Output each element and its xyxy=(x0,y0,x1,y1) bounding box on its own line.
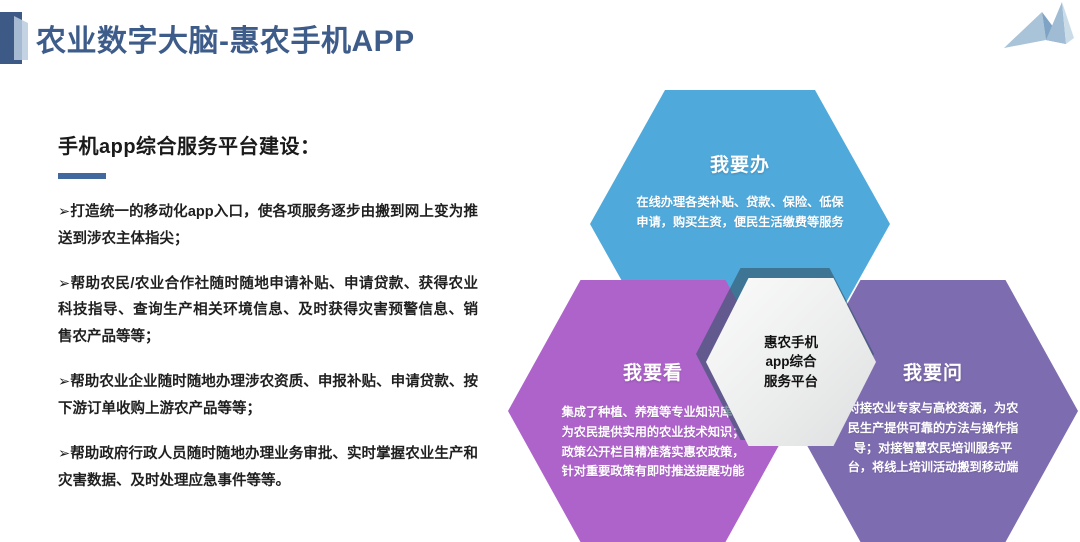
page-title: 农业数字大脑-惠农手机APP xyxy=(36,16,415,60)
hexagon-body: 集成了种植、养殖等专业知识库，为农民提供实用的农业技术知识；政策公开栏目精准落实… xyxy=(558,403,748,482)
bullet-paragraph: ➢帮助农业企业随时随地办理涉农资质、申报补贴、申请贷款、按下游订单收购上游农产品… xyxy=(58,369,478,423)
bullet-paragraph: ➢打造统一的移动化app入口，使各项服务逐步由搬到网上变为推送到涉农主体指尖； xyxy=(58,199,478,253)
hexagon-title: 我要看 xyxy=(623,358,683,385)
left-text-column: 手机app综合服务平台建设： ➢打造统一的移动化app入口，使各项服务逐步由搬到… xyxy=(58,130,478,494)
heading-underline-rule xyxy=(58,173,106,179)
hexagon-center-label: 惠农手机 app综合 服务平台 xyxy=(764,333,818,390)
bullet-paragraph: ➢帮助政府行政人员随时随地办理业务审批、实时掌握农业生产和灾害数据、及时处理应急… xyxy=(58,441,478,495)
accent-block-light xyxy=(14,16,28,60)
hexagon-body: 对接农业专家与高校资源，为农民生产提供可靠的方法与操作指导；对接智慧农民培训服务… xyxy=(843,399,1023,478)
title-accent-bar xyxy=(0,12,22,64)
hexagon-venn-diagram: 我要办 在线办理各类补贴、贷款、保险、低保申请，购买生资，便民生活缴费等服务 我… xyxy=(500,80,1080,540)
hexagon-body: 在线办理各类补贴、贷款、保险、低保申请，购买生资，便民生活缴费等服务 xyxy=(633,193,848,233)
hexagon-title: 我要问 xyxy=(903,358,963,385)
origami-triangle-icon xyxy=(990,0,1076,60)
bullet-paragraph: ➢帮助农民/农业合作社随时随地申请补贴、申请贷款、获得农业科技指导、查询生产相关… xyxy=(58,271,478,351)
slide-title-bar: 农业数字大脑-惠农手机APP xyxy=(0,12,415,64)
hexagon-title: 我要办 xyxy=(710,150,770,177)
section-heading: 手机app综合服务平台建设： xyxy=(58,130,478,159)
